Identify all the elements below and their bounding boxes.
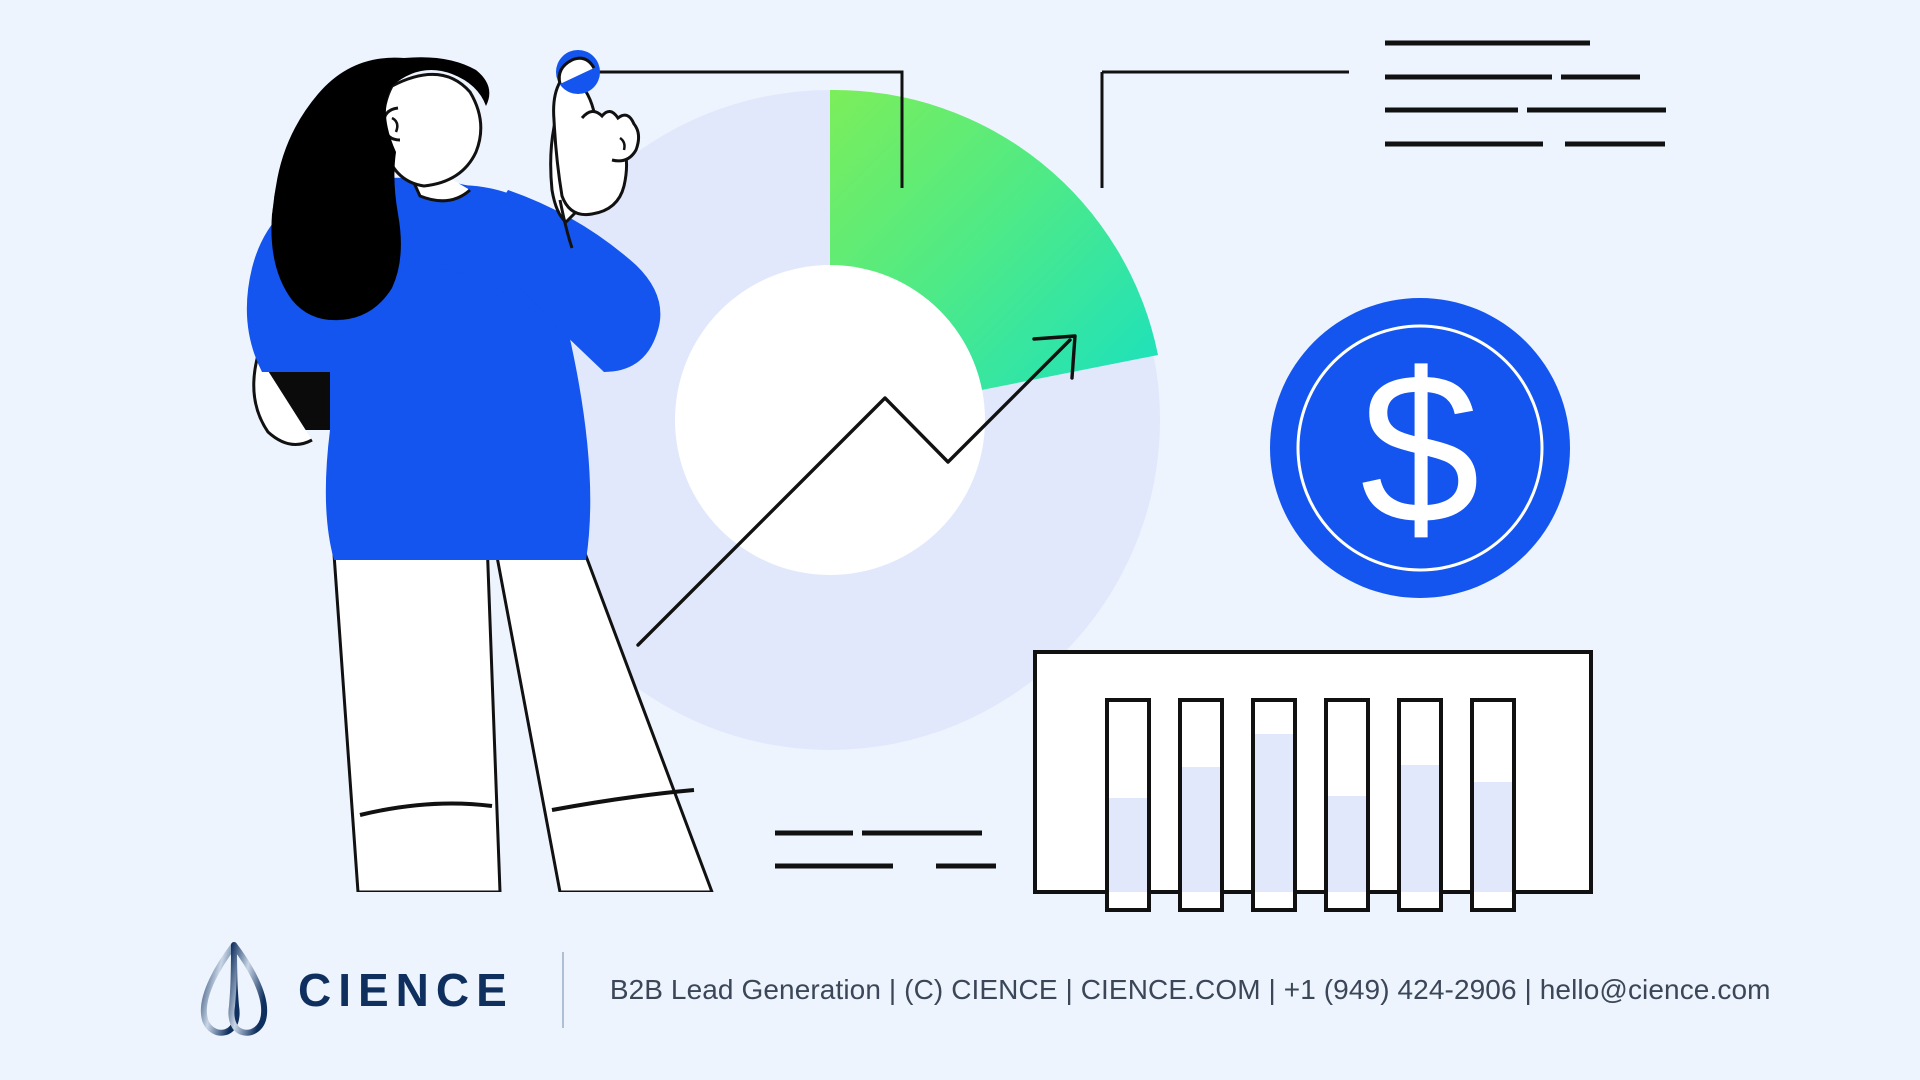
bar-column — [1399, 700, 1441, 910]
bar-column — [1326, 700, 1368, 910]
dollar-coin: $ — [1270, 298, 1570, 598]
hero-artwork: $ — [0, 0, 1920, 1080]
cience-logo-mark — [196, 942, 272, 1038]
bar-column — [1107, 700, 1149, 910]
footer-bar: CIENCE B2B Lead Generation | (C) CIENCE … — [0, 920, 1920, 1060]
donut-hole — [675, 265, 985, 575]
bar-column — [1180, 700, 1222, 910]
illustration-canvas: $ — [0, 0, 1920, 1080]
footer-divider — [562, 952, 564, 1028]
trouser-left — [333, 540, 500, 892]
bar-chart-panel — [1035, 652, 1591, 910]
bar-column — [1472, 700, 1514, 910]
cience-logo[interactable]: CIENCE — [196, 942, 514, 1038]
cience-wordmark: CIENCE — [298, 967, 514, 1013]
dollar-sign-icon: $ — [1360, 328, 1480, 569]
footer-tagline: B2B Lead Generation | (C) CIENCE | CIENC… — [610, 974, 1771, 1006]
bar-column — [1253, 700, 1295, 910]
